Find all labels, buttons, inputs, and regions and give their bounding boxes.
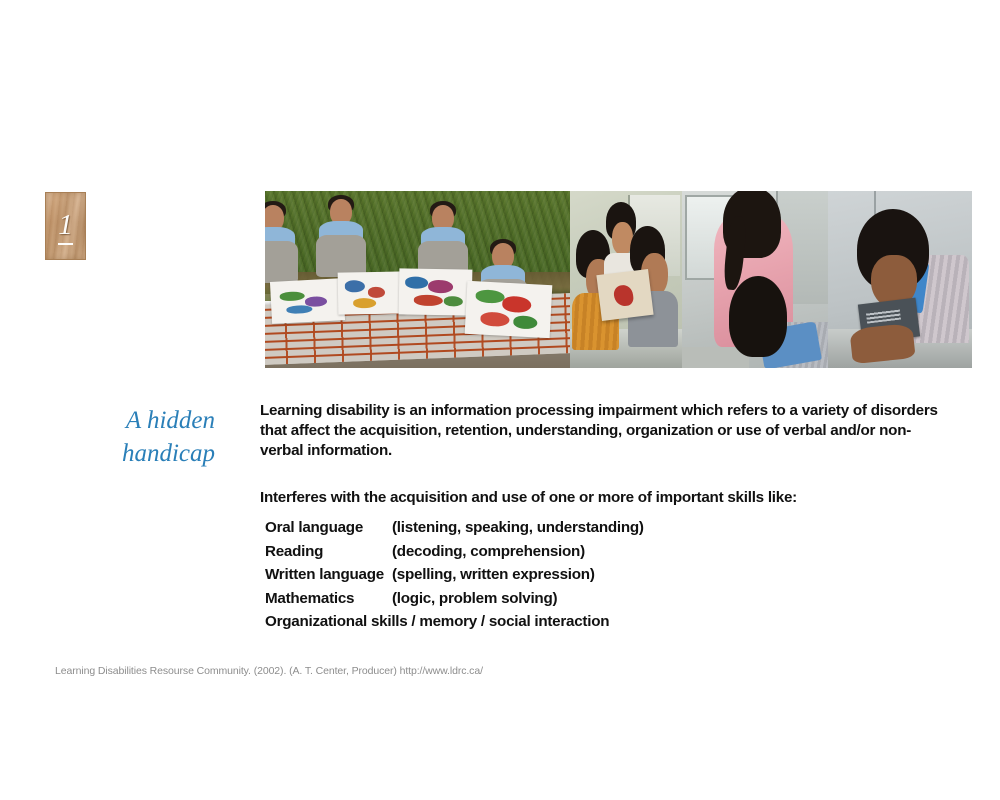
- skill-name: Oral language: [265, 519, 392, 536]
- slide-number-text: 1: [58, 211, 73, 245]
- skill-row: Written language(spelling, written expre…: [265, 566, 865, 590]
- printed-board: [596, 269, 653, 321]
- skill-name: Mathematics: [265, 590, 392, 607]
- skill-name: Written language: [265, 566, 392, 583]
- skill-name: Reading: [265, 543, 392, 560]
- slide-canvas: 1: [0, 0, 1000, 800]
- uniform-body: [265, 241, 298, 283]
- skill-name: Organizational skills / memory / social …: [265, 613, 609, 630]
- lead-paragraph: Learning disability is an information pr…: [260, 401, 938, 462]
- slide-number-badge: 1: [45, 192, 86, 260]
- skill-detail: (spelling, written expression): [392, 566, 595, 583]
- leaf-print: [613, 284, 634, 307]
- skill-row: Reading(decoding, comprehension): [265, 543, 865, 567]
- interferes-heading: Interferes with the acquisition and use …: [260, 489, 920, 506]
- page-title: A hidden handicap: [60, 404, 215, 470]
- artwork-sheet: [338, 272, 406, 316]
- skill-row: Oral language(listening, speaking, under…: [265, 519, 865, 543]
- page-title-line-1: A hidden: [60, 404, 215, 437]
- photo-boys-printed-board: [570, 191, 682, 368]
- citation-text: Learning Disabilities Resourse Community…: [55, 665, 483, 677]
- skill-row: Organizational skills / memory / social …: [265, 613, 865, 637]
- artwork-sheet: [399, 268, 473, 315]
- student-head: [729, 276, 787, 357]
- photo-strip: [265, 191, 972, 368]
- skill-detail: (decoding, comprehension): [392, 543, 585, 560]
- photo-students-leaf-printing: [265, 191, 570, 368]
- skill-detail: (logic, problem solving): [392, 590, 557, 607]
- skill-row: Mathematics(logic, problem solving): [265, 590, 865, 614]
- uniform-body: [316, 235, 366, 277]
- skills-list: Oral language(listening, speaking, under…: [265, 519, 865, 637]
- artwork-sheet: [270, 278, 345, 324]
- page-title-line-2: handicap: [60, 437, 215, 470]
- skill-detail: (listening, speaking, understanding): [392, 519, 644, 536]
- photo-boy-reading-close: [828, 191, 972, 368]
- artwork-sheet: [465, 281, 553, 338]
- photo-teacher-assisting-student: [682, 191, 828, 368]
